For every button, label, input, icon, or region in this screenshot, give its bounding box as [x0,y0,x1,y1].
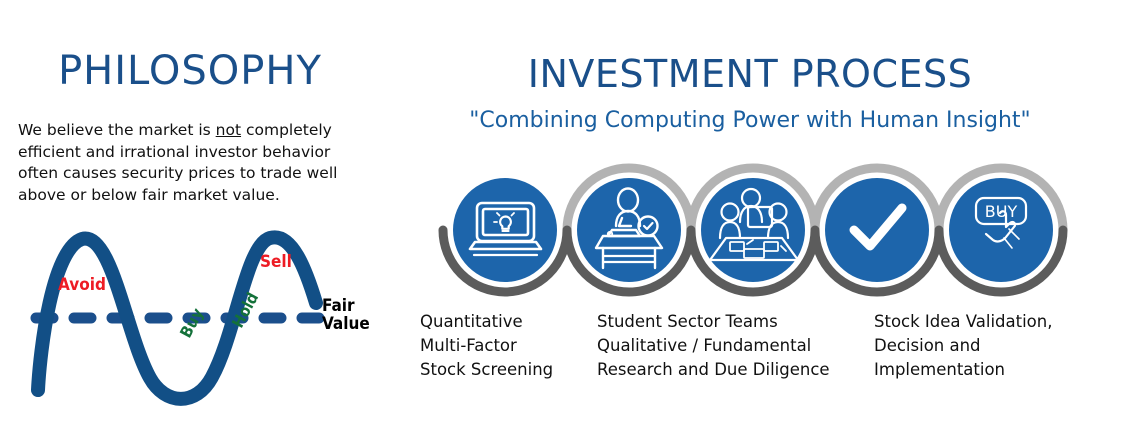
investment-process-diagram: BUY [400,150,1134,310]
process-caption-2: Student Sector Teams Qualitative / Funda… [597,310,830,382]
caption-line: Research and Due Diligence [597,358,830,382]
process-step-4-circle[interactable] [825,178,929,282]
caption-line: Decision and [874,334,1052,358]
philosophy-heading: PHILOSOPHY [0,48,380,94]
process-step-4[interactable] [825,178,929,282]
caption-line: Qualitative / Fundamental [597,334,830,358]
wave-label-avoid: Avoid [58,275,106,295]
process-step-3[interactable] [701,178,805,282]
process-step-5-circle[interactable] [949,178,1053,282]
caption-line: Quantitative [420,310,553,334]
wave-label-fair-value: Fair Value [322,297,370,333]
slide-canvas: PHILOSOPHY We believe the market is not … [0,0,1134,442]
process-caption-1: Quantitative Multi-Factor Stock Screenin… [420,310,553,382]
process-step-5[interactable]: BUY [949,178,1053,282]
philosophy-body-text: We believe the market is not completely … [18,120,348,206]
wave-label-sell: Sell [260,252,292,272]
process-diagram-svg: BUY [400,150,1134,310]
fair-value-line-1: Fair [322,297,370,315]
philosophy-body-emphasis: not [216,121,241,139]
process-caption-3: Stock Idea Validation, Decision and Impl… [874,310,1052,382]
process-step-2[interactable] [577,178,681,282]
process-step-1[interactable] [453,178,557,282]
caption-line: Implementation [874,358,1052,382]
process-subheading: "Combining Computing Power with Human In… [400,108,1100,133]
fair-value-line-2: Value [322,315,370,333]
philosophy-body-prefix: We believe the market is [18,121,216,139]
caption-line: Multi-Factor [420,334,553,358]
caption-line: Stock Idea Validation, [874,310,1052,334]
process-step-3-circle[interactable] [701,178,805,282]
process-heading: INVESTMENT PROCESS [400,52,1100,96]
caption-line: Student Sector Teams [597,310,830,334]
caption-line: Stock Screening [420,358,553,382]
